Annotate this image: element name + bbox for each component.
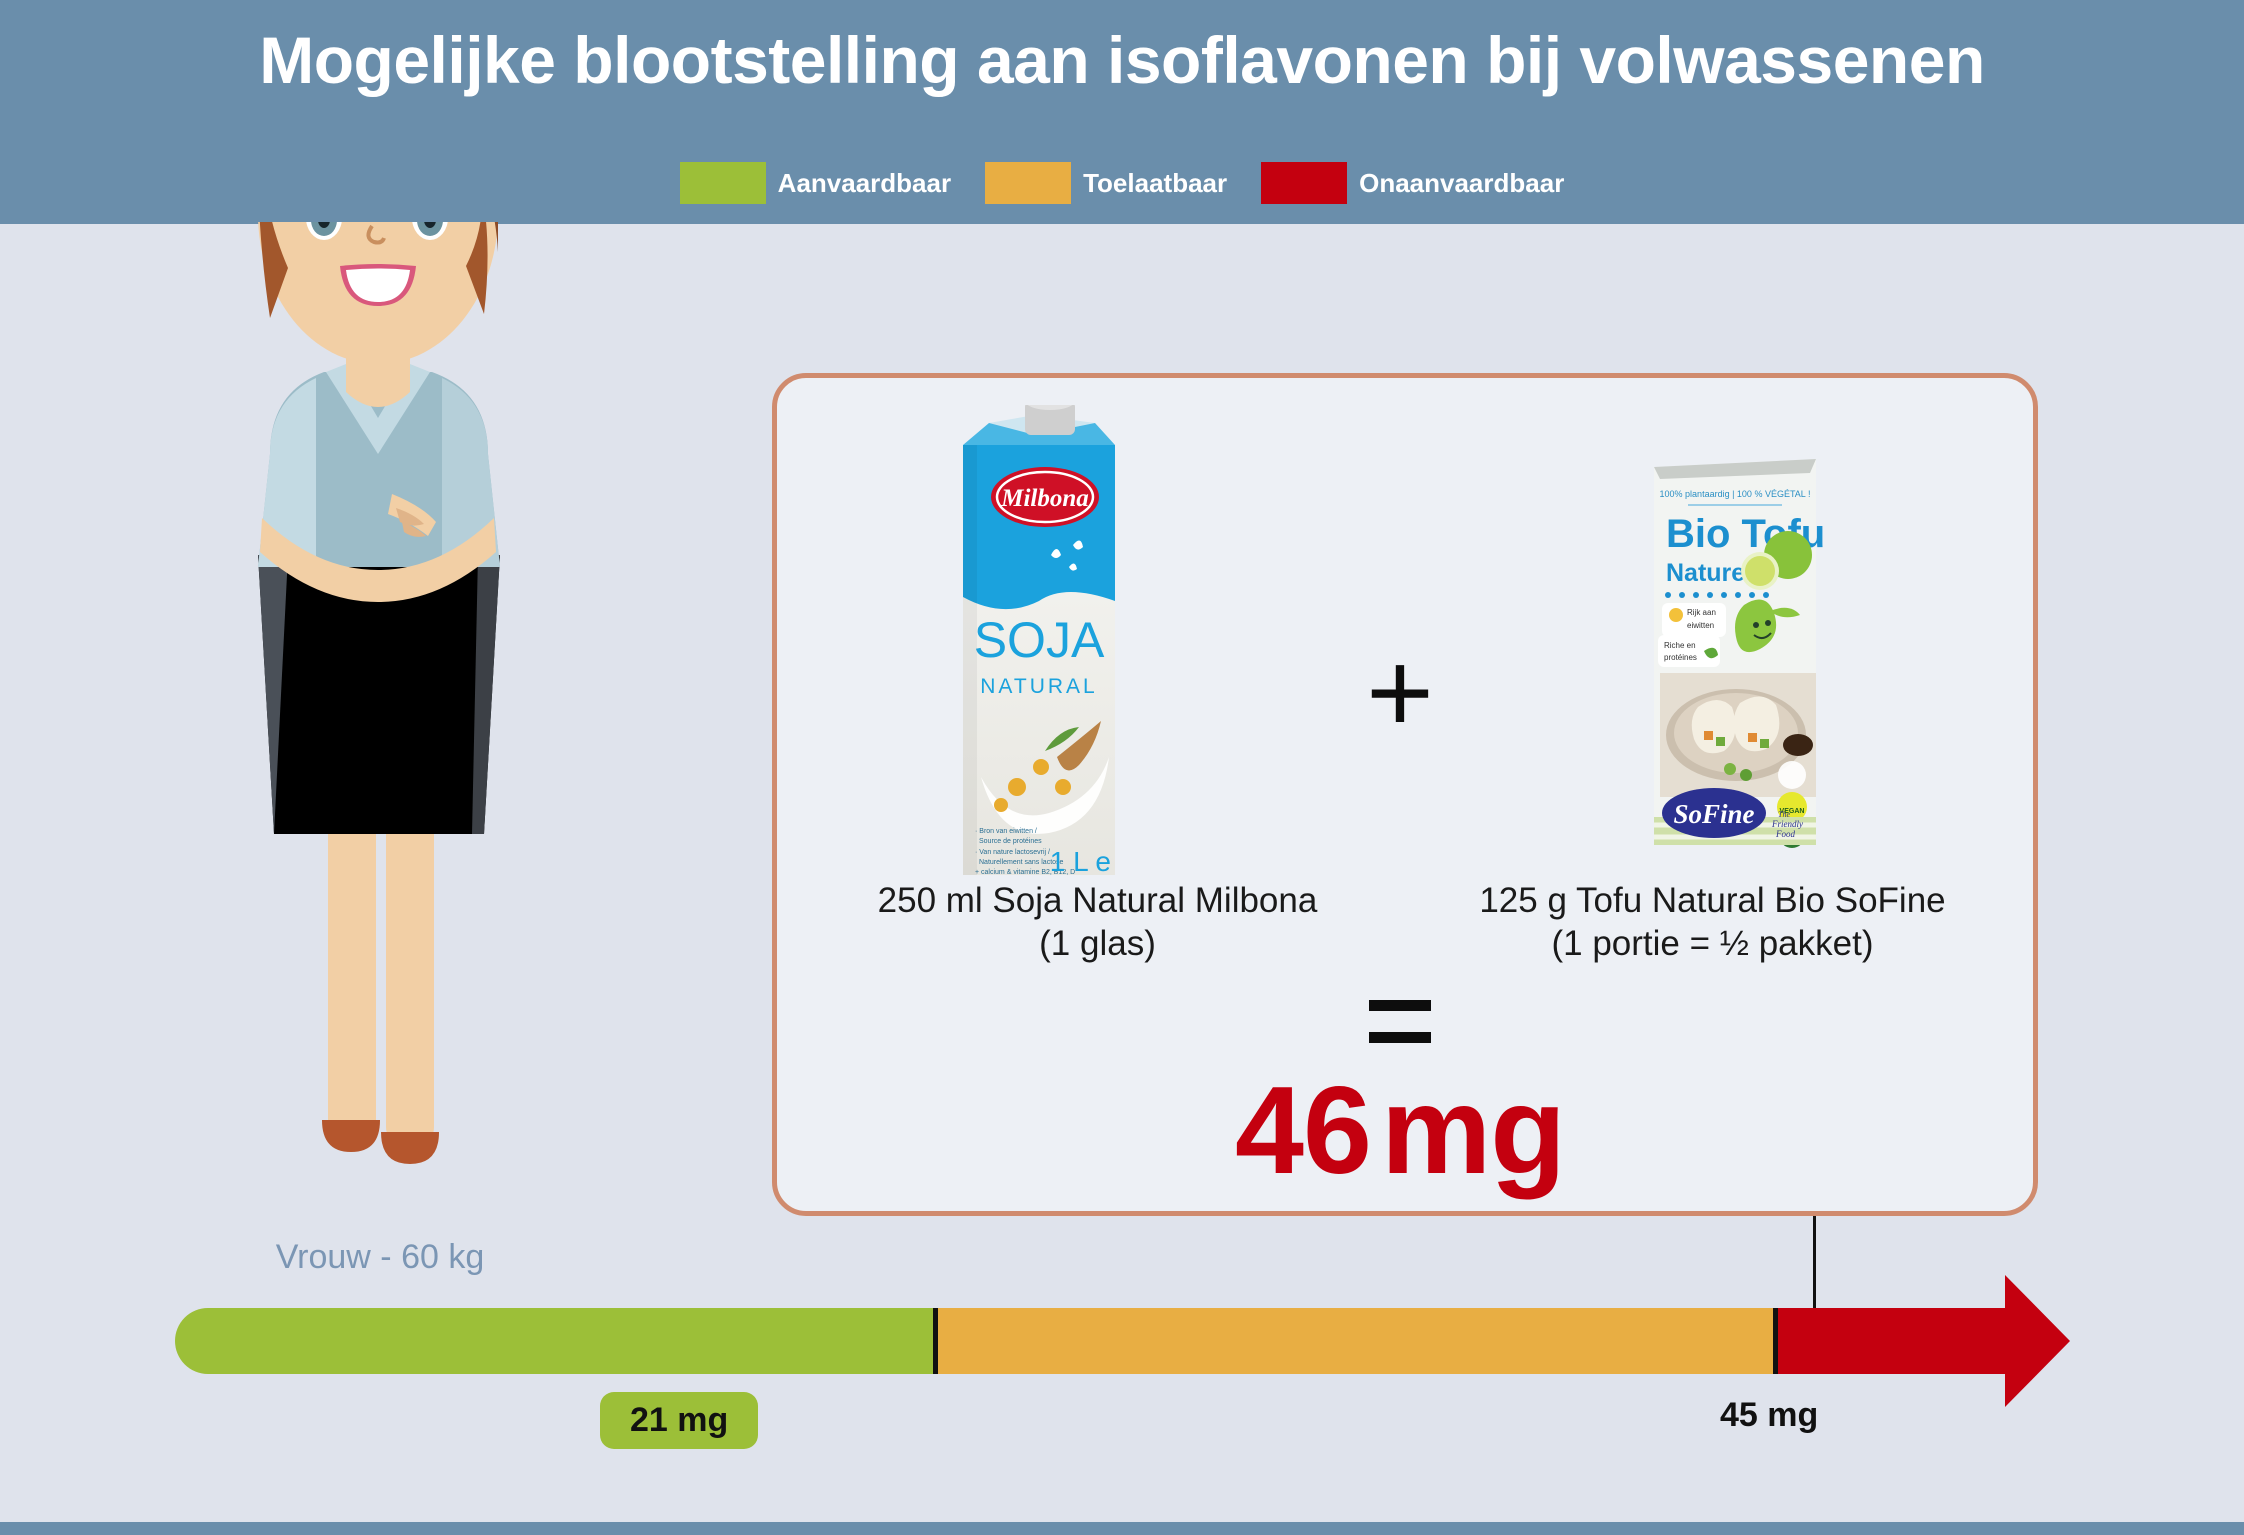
woman-illustration <box>196 222 556 1222</box>
svg-text:The: The <box>1778 810 1790 819</box>
svg-text:protéines: protéines <box>1664 653 1697 662</box>
caption-soja-line1: 250 ml Soja Natural Milbona <box>790 880 1405 923</box>
svg-text:Friendly: Friendly <box>1771 819 1803 829</box>
scale-segment-aanvaardbaar <box>175 1308 935 1374</box>
total-number: 46 <box>1235 1062 1371 1200</box>
legend-label-toelaatbaar: Toelaatbaar <box>1083 168 1227 199</box>
svg-text:Riche en: Riche en <box>1664 641 1696 650</box>
legend-item-onaanvaardbaar: Onaanvaardbaar <box>1261 162 1564 204</box>
svg-text:Milbona: Milbona <box>1000 485 1089 512</box>
scale-tick-21 <box>933 1308 938 1374</box>
caption-tofu-line2: (1 portie = ½ pakket) <box>1405 923 2020 966</box>
svg-text:· Bron van eiwitten /: · Bron van eiwitten / <box>975 828 1037 835</box>
scale-arrow-head-icon <box>2005 1275 2070 1407</box>
svg-text:SoFine: SoFine <box>1673 799 1754 829</box>
total-exposure-value: 46mg <box>1000 1060 1800 1202</box>
scale-segment-toelaatbaar <box>935 1308 1777 1374</box>
equals-bar-bottom <box>1369 1032 1431 1043</box>
svg-text:eiwitten: eiwitten <box>1687 621 1714 630</box>
product-captions: 250 ml Soja Natural Milbona (1 glas) 125… <box>790 880 2020 965</box>
svg-text:100% plantaardig | 100 % VÉGÉT: 100% plantaardig | 100 % VÉGÉTAL ! <box>1660 489 1811 499</box>
legend-label-aanvaardbaar: Aanvaardbaar <box>778 168 951 199</box>
caption-tofu-line1: 125 g Tofu Natural Bio SoFine <box>1405 880 2020 923</box>
scale-label-21mg: 21 mg <box>600 1392 758 1449</box>
legend-item-toelaatbaar: Toelaatbaar <box>985 162 1227 204</box>
svg-text:NATURAL: NATURAL <box>980 675 1097 698</box>
equals-operator <box>1355 1000 1445 1056</box>
footer-band <box>0 1522 2244 1535</box>
svg-text:1 L e: 1 L e <box>1050 846 1111 875</box>
scale-tick-45 <box>1773 1308 1778 1374</box>
caption-soja: 250 ml Soja Natural Milbona (1 glas) <box>790 880 1405 965</box>
plus-operator: + <box>1352 640 1448 744</box>
page-title: Mogelijke blootstelling aan isoflavonen … <box>0 22 2244 98</box>
soja-carton-milbona-image: Milbona SOJA NATURAL · Bron van eiwitten… <box>945 405 1155 875</box>
svg-text:Source de protéines: Source de protéines <box>979 838 1042 845</box>
scale-label-45mg: 45 mg <box>1720 1396 1818 1435</box>
caption-tofu: 125 g Tofu Natural Bio SoFine (1 portie … <box>1405 880 2020 965</box>
exposure-scale-bar <box>175 1308 2075 1374</box>
character-caption: Vrouw - 60 kg <box>150 1238 610 1277</box>
infographic-root: Mogelijke blootstelling aan isoflavonen … <box>0 0 2244 1535</box>
equals-bar-top <box>1369 1000 1431 1011</box>
svg-text:Food: Food <box>1775 829 1795 839</box>
total-unit: mg <box>1381 1062 1565 1200</box>
legend: Aanvaardbaar Toelaatbaar Onaanvaardbaar <box>0 162 2244 204</box>
svg-text:Naturel: Naturel <box>1666 559 1752 587</box>
svg-text:· Van nature lactosevrij /: · Van nature lactosevrij / <box>975 849 1050 856</box>
legend-label-onaanvaardbaar: Onaanvaardbaar <box>1359 168 1564 199</box>
scale-segment-onaanvaardbaar <box>1777 1308 2005 1374</box>
legend-swatch-green-icon <box>680 162 766 204</box>
svg-text:Rijk aan: Rijk aan <box>1687 608 1716 617</box>
svg-text:SOJA: SOJA <box>974 612 1105 668</box>
tofu-pack-sofine-image: 100% plantaardig | 100 % VÉGÉTAL ! Bio T… <box>1640 445 1830 850</box>
legend-swatch-orange-icon <box>985 162 1071 204</box>
caption-soja-line2: (1 glas) <box>790 923 1405 966</box>
legend-swatch-red-icon <box>1261 162 1347 204</box>
legend-item-aanvaardbaar: Aanvaardbaar <box>680 162 951 204</box>
